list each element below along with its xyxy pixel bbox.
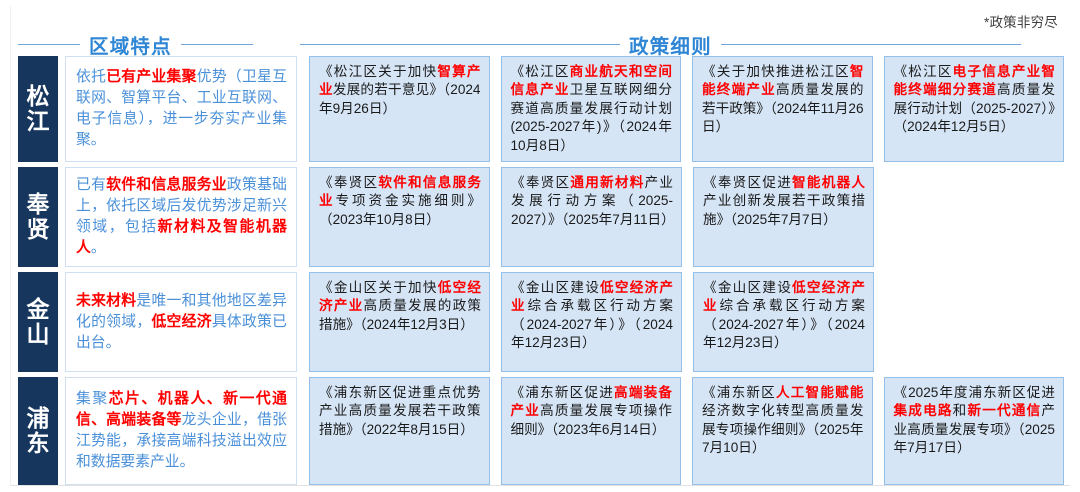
policy-card[interactable]: 《奉贤区软件和信息服务业专项资金实施细则》（2023年10月8日） xyxy=(309,167,490,267)
policy-card-list: 《松江区关于加快智算产业发展的若干意见》（2024年9月26日） 《松江区商业航… xyxy=(309,56,1064,162)
policy-card[interactable]: 《金山区建设低空经济产业综合承载区行动方案（2024-2027年）》（2024年… xyxy=(501,272,682,372)
policy-card-list: 《金山区关于加快低空经济产业高质量发展的政策措施》（2024年12月3日） 《金… xyxy=(309,272,1064,372)
region-description-text: 依托已有产业集聚优势（卫星互联网、智算平台、工业互联网、电子信息），进一步夯实产… xyxy=(76,67,287,151)
policy-card[interactable]: 《奉贤区促进智能机器人产业创新发展若干政策措施》（2025年7月7日） xyxy=(693,167,874,267)
policy-card-text: 《2025年度浦东新区促进集成电路和新一代通信产业高质量发展专项》（2025年7… xyxy=(894,384,1056,458)
policy-header-title: 政策细则 xyxy=(629,30,712,59)
policy-card-text: 《金山区关于加快低空经济产业高质量发展的政策措施》（2024年12月3日） xyxy=(319,279,481,334)
region-description-cell: 依托已有产业集聚优势（卫星互联网、智算平台、工业互联网、电子信息），进一步夯实产… xyxy=(65,56,297,162)
table-row: 奉 贤 已有软件和信息服务业政策基础上，依托区域后发优势涉足新兴领域，包括新材料… xyxy=(0,167,1080,267)
region-description-cell: 集聚芯片、机器人、新一代通信、高端装备等龙头企业，借张江势能，承接高端科技溢出效… xyxy=(65,377,297,485)
policy-card-text: 《关于加快推进松江区智能终端产业高质量发展的若干政策》（2024年11月26日） xyxy=(702,63,864,137)
policy-card-list: 《浦东新区促进重点优势产业高质量发展若干政策措施》（2022年8月15日） 《浦… xyxy=(309,377,1064,485)
region-tag-char: 贤 xyxy=(27,217,50,242)
policy-card-text: 《浦东新区促进高端装备产业高质量发展专项操作细则》（2023年6月14日） xyxy=(511,384,673,439)
region-tag: 奉 贤 xyxy=(18,167,58,267)
policy-column-header: 政策细则 xyxy=(300,30,1062,58)
region-tag: 松 江 xyxy=(18,56,58,162)
policy-card-list: 《奉贤区软件和信息服务业专项资金实施细则》（2023年10月8日） 《奉贤区通用… xyxy=(309,167,1064,267)
header-rule-right xyxy=(181,44,253,45)
policy-card[interactable]: 《浦东新区促进重点优势产业高质量发展若干政策措施》（2022年8月15日） xyxy=(309,377,490,485)
region-description-text: 未来材料是唯一和其他地区差异化的领域，低空经济具体政策已出台。 xyxy=(76,291,287,354)
region-tag-char: 东 xyxy=(27,431,50,456)
policy-card-text: 《浦东新区人工智能赋能经济数字化转型高质量发展专项操作细则》（2025年7月10… xyxy=(702,384,864,458)
policy-card[interactable]: 《关于加快推进松江区智能终端产业高质量发展的若干政策》（2024年11月26日） xyxy=(692,56,873,162)
policy-card-text: 《松江区关于加快智算产业发展的若干意见》（2024年9月26日） xyxy=(319,63,481,118)
header-rule-left xyxy=(300,44,620,45)
region-tag-char: 浦 xyxy=(27,406,50,431)
region-tag: 浦 东 xyxy=(18,377,58,485)
policy-card[interactable]: 《金山区建设低空经济产业综合承载区行动方案（2024-2027年）》（2024年… xyxy=(693,272,874,372)
policy-card-empty xyxy=(885,167,1064,267)
policy-card[interactable]: 《2025年度浦东新区促进集成电路和新一代通信产业高质量发展专项》（2025年7… xyxy=(884,377,1065,485)
region-policy-table: 松 江 依托已有产业集聚优势（卫星互联网、智算平台、工业互联网、电子信息），进一… xyxy=(0,56,1080,490)
region-tag-char: 江 xyxy=(27,109,50,134)
column-headers: 区域特点 政策细则 xyxy=(0,30,1080,58)
region-header-title: 区域特点 xyxy=(89,30,172,59)
policy-card-text: 《金山区建设低空经济产业综合承载区行动方案（2024-2027年）》（2024年… xyxy=(511,279,673,353)
policy-card-empty xyxy=(885,272,1064,372)
policy-card-text: 《浦东新区促进重点优势产业高质量发展若干政策措施》（2022年8月15日） xyxy=(319,384,481,439)
region-tag-char: 山 xyxy=(27,322,50,347)
policy-card[interactable]: 《浦东新区人工智能赋能经济数字化转型高质量发展专项操作细则》（2025年7月10… xyxy=(692,377,873,485)
policy-card-text: 《松江区商业航天和空间信息产业卫星互联网细分赛道高质量发展行动计划(2025-2… xyxy=(511,63,673,155)
table-row: 金 山 未来材料是唯一和其他地区差异化的领域，低空经济具体政策已出台。 《金山区… xyxy=(0,272,1080,372)
policy-card-text: 《奉贤区软件和信息服务业专项资金实施细则》（2023年10月8日） xyxy=(319,174,481,229)
region-tag-char: 奉 xyxy=(27,192,50,217)
region-description-text: 已有软件和信息服务业政策基础上，依托区域后发优势涉足新兴领域，包括新材料及智能机… xyxy=(76,175,287,259)
region-description-cell: 未来材料是唯一和其他地区差异化的领域，低空经济具体政策已出台。 xyxy=(65,272,297,372)
frame-bottom-border xyxy=(10,485,1070,486)
region-tag-char: 松 xyxy=(27,84,50,109)
policy-card[interactable]: 《松江区电子信息产业智能终端细分赛道高质量发展行动计划（2025-2027）》（… xyxy=(884,56,1065,162)
region-description-text: 集聚芯片、机器人、新一代通信、高端装备等龙头企业，借张江势能，承接高端科技溢出效… xyxy=(76,389,287,473)
policy-card[interactable]: 《奉贤区通用新材料产业发展行动方案（2025-2027）》（2025年7月11日… xyxy=(501,167,682,267)
footnote-policy-not-exhaustive: *政策非穷尽 xyxy=(984,11,1058,31)
policy-card-text: 《松江区电子信息产业智能终端细分赛道高质量发展行动计划（2025-2027）》（… xyxy=(894,63,1056,137)
header-rule-right xyxy=(721,44,1021,45)
table-row: 松 江 依托已有产业集聚优势（卫星互联网、智算平台、工业互联网、电子信息），进一… xyxy=(0,56,1080,162)
region-tag-char: 金 xyxy=(27,297,50,322)
policy-card[interactable]: 《松江区商业航天和空间信息产业卫星互联网细分赛道高质量发展行动计划(2025-2… xyxy=(501,56,682,162)
policy-card[interactable]: 《松江区关于加快智算产业发展的若干意见》（2024年9月26日） xyxy=(309,56,490,162)
region-column-header: 区域特点 xyxy=(18,30,253,58)
policy-card-text: 《金山区建设低空经济产业综合承载区行动方案（2024-2027年）》（2024年… xyxy=(703,279,865,353)
policy-card-text: 《奉贤区促进智能机器人产业创新发展若干政策措施》（2025年7月7日） xyxy=(703,174,865,229)
policy-card[interactable]: 《浦东新区促进高端装备产业高质量发展专项操作细则》（2023年6月14日） xyxy=(501,377,682,485)
table-row: 浦 东 集聚芯片、机器人、新一代通信、高端装备等龙头企业，借张江势能，承接高端科… xyxy=(0,377,1080,485)
policy-card-text: 《奉贤区通用新材料产业发展行动方案（2025-2027）》（2025年7月11日… xyxy=(511,174,673,229)
policy-card[interactable]: 《金山区关于加快低空经济产业高质量发展的政策措施》（2024年12月3日） xyxy=(309,272,490,372)
region-description-cell: 已有软件和信息服务业政策基础上，依托区域后发优势涉足新兴领域，包括新材料及智能机… xyxy=(65,167,297,267)
header-rule-left xyxy=(18,44,80,45)
region-tag: 金 山 xyxy=(18,272,58,372)
